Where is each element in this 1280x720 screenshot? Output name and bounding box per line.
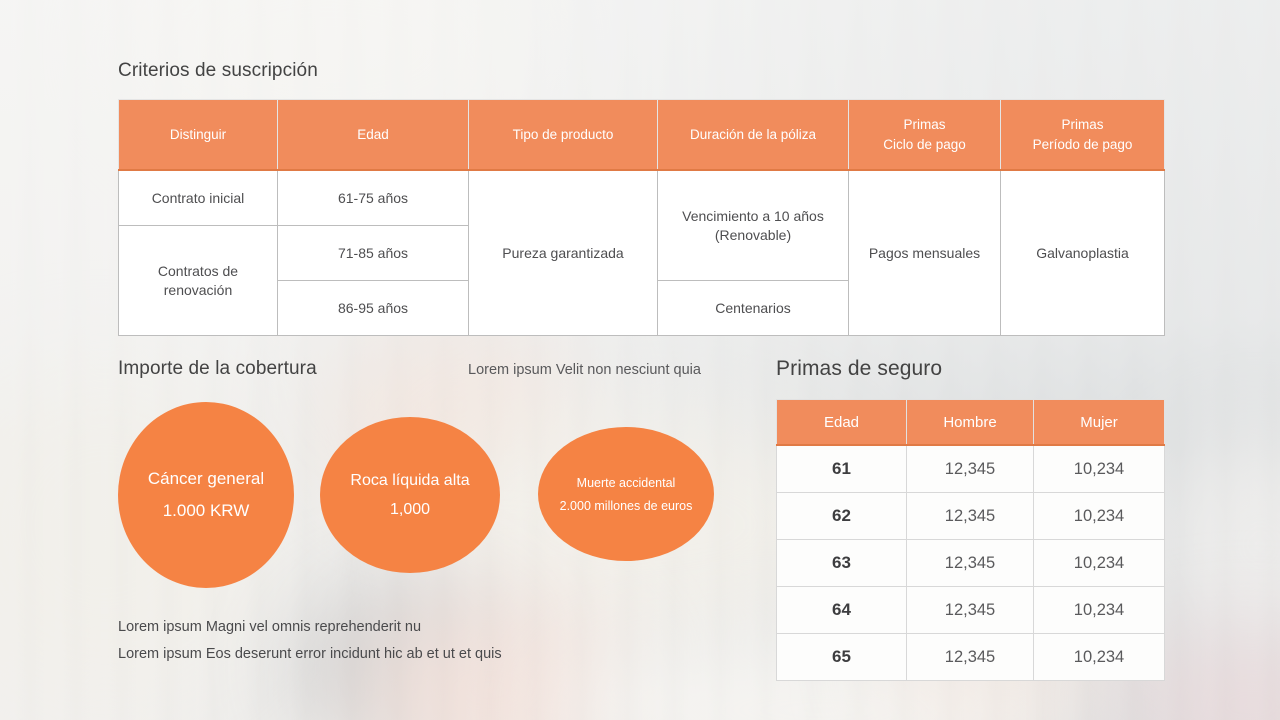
table-row: Contrato inicial 61-75 años Pureza garan… [119,170,1165,226]
premium-header-hombre: Hombre [907,400,1034,446]
premium-cell-female: 10,234 [1034,493,1165,540]
criteria-cell-distinguir-renewal: Contratos de renovación [119,226,278,336]
premium-cell-male: 12,345 [907,540,1034,587]
coverage-circle-value: 1,000 [390,501,430,519]
coverage-circle-title: Roca líquida alta [350,472,469,490]
coverage-circle-cancer[interactable]: Cáncer general 1.000 KRW [118,402,294,588]
premium-cell-male: 12,345 [907,493,1034,540]
premium-cell-age: 61 [777,445,907,493]
criteria-header-primas-periodo: Primas Período de pago [1001,100,1165,171]
premium-cell-age: 64 [777,587,907,634]
premium-cell-female: 10,234 [1034,445,1165,493]
criteria-cell-age-2: 71-85 años [278,226,469,281]
coverage-circle-title: Cáncer general [148,469,264,489]
coverage-circle-value: 2.000 millones de euros [560,499,693,513]
premium-cell-age: 65 [777,634,907,681]
policy-duration-line1: Vencimiento a 10 años [682,208,824,224]
premium-cell-female: 10,234 [1034,587,1165,634]
criteria-cell-payment-cycle: Pagos mensuales [849,170,1001,336]
premium-cell-male: 12,345 [907,587,1034,634]
criteria-cell-distinguir-initial: Contrato inicial [119,170,278,226]
criteria-header-row: Distinguir Edad Tipo de producto Duració… [119,100,1165,171]
criteria-cell-age-1: 61-75 años [278,170,469,226]
table-row: 65 12,345 10,234 [777,634,1165,681]
premium-table: Edad Hombre Mujer 61 12,345 10,234 62 12… [776,399,1165,681]
table-row: 64 12,345 10,234 [777,587,1165,634]
criteria-table: Distinguir Edad Tipo de producto Duració… [118,99,1165,336]
premium-cell-male: 12,345 [907,445,1034,493]
coverage-circle-roca-liquida[interactable]: Roca líquida alta 1,000 [320,417,500,573]
coverage-section-note: Lorem ipsum Velit non nesciunt quia [468,362,701,378]
coverage-footnote-1: Lorem ipsum Magni vel omnis reprehenderi… [118,614,502,641]
table-row: 62 12,345 10,234 [777,493,1165,540]
criteria-cell-payment-period: Galvanoplastia [1001,170,1165,336]
criteria-header-distinguir: Distinguir [119,100,278,171]
table-row: 61 12,345 10,234 [777,445,1165,493]
premium-cell-age: 63 [777,540,907,587]
slide-canvas: Criterios de suscripción Distinguir Edad… [0,0,1280,720]
criteria-header-duracion-poliza: Duración de la póliza [658,100,849,171]
premium-cell-female: 10,234 [1034,634,1165,681]
coverage-footnote-2: Lorem ipsum Eos deserunt error incidunt … [118,641,502,668]
criteria-cell-age-3: 86-95 años [278,281,469,336]
premium-section-title: Primas de seguro [776,357,942,381]
coverage-circle-muerte-accidental[interactable]: Muerte accidental 2.000 millones de euro… [538,427,714,561]
table-row: 63 12,345 10,234 [777,540,1165,587]
criteria-header-primas-periodo-line1: Primas [1061,117,1103,132]
criteria-header-tipo-producto: Tipo de producto [469,100,658,171]
premium-header-mujer: Mujer [1034,400,1165,446]
premium-cell-age: 62 [777,493,907,540]
coverage-section-title: Importe de la cobertura [118,358,317,380]
coverage-circle-title: Muerte accidental [577,476,676,490]
background-blob [1150,430,1280,660]
criteria-header-primas-ciclo-line2: Ciclo de pago [883,137,966,152]
criteria-header-edad: Edad [278,100,469,171]
criteria-cell-product-type: Pureza garantizada [469,170,658,336]
premium-header-row: Edad Hombre Mujer [777,400,1165,446]
premium-cell-male: 12,345 [907,634,1034,681]
criteria-header-primas-periodo-line2: Período de pago [1033,137,1133,152]
criteria-header-primas-ciclo: Primas Ciclo de pago [849,100,1001,171]
criteria-cell-policy-duration-2: Centenarios [658,281,849,336]
criteria-cell-policy-duration-1: Vencimiento a 10 años (Renovable) [658,170,849,281]
criteria-section-title: Criterios de suscripción [118,60,318,82]
coverage-circle-value: 1.000 KRW [163,501,250,521]
premium-cell-female: 10,234 [1034,540,1165,587]
policy-duration-line2: (Renovable) [715,227,791,243]
premium-header-edad: Edad [777,400,907,446]
coverage-footnotes: Lorem ipsum Magni vel omnis reprehenderi… [118,614,502,668]
criteria-header-primas-ciclo-line1: Primas [903,117,945,132]
